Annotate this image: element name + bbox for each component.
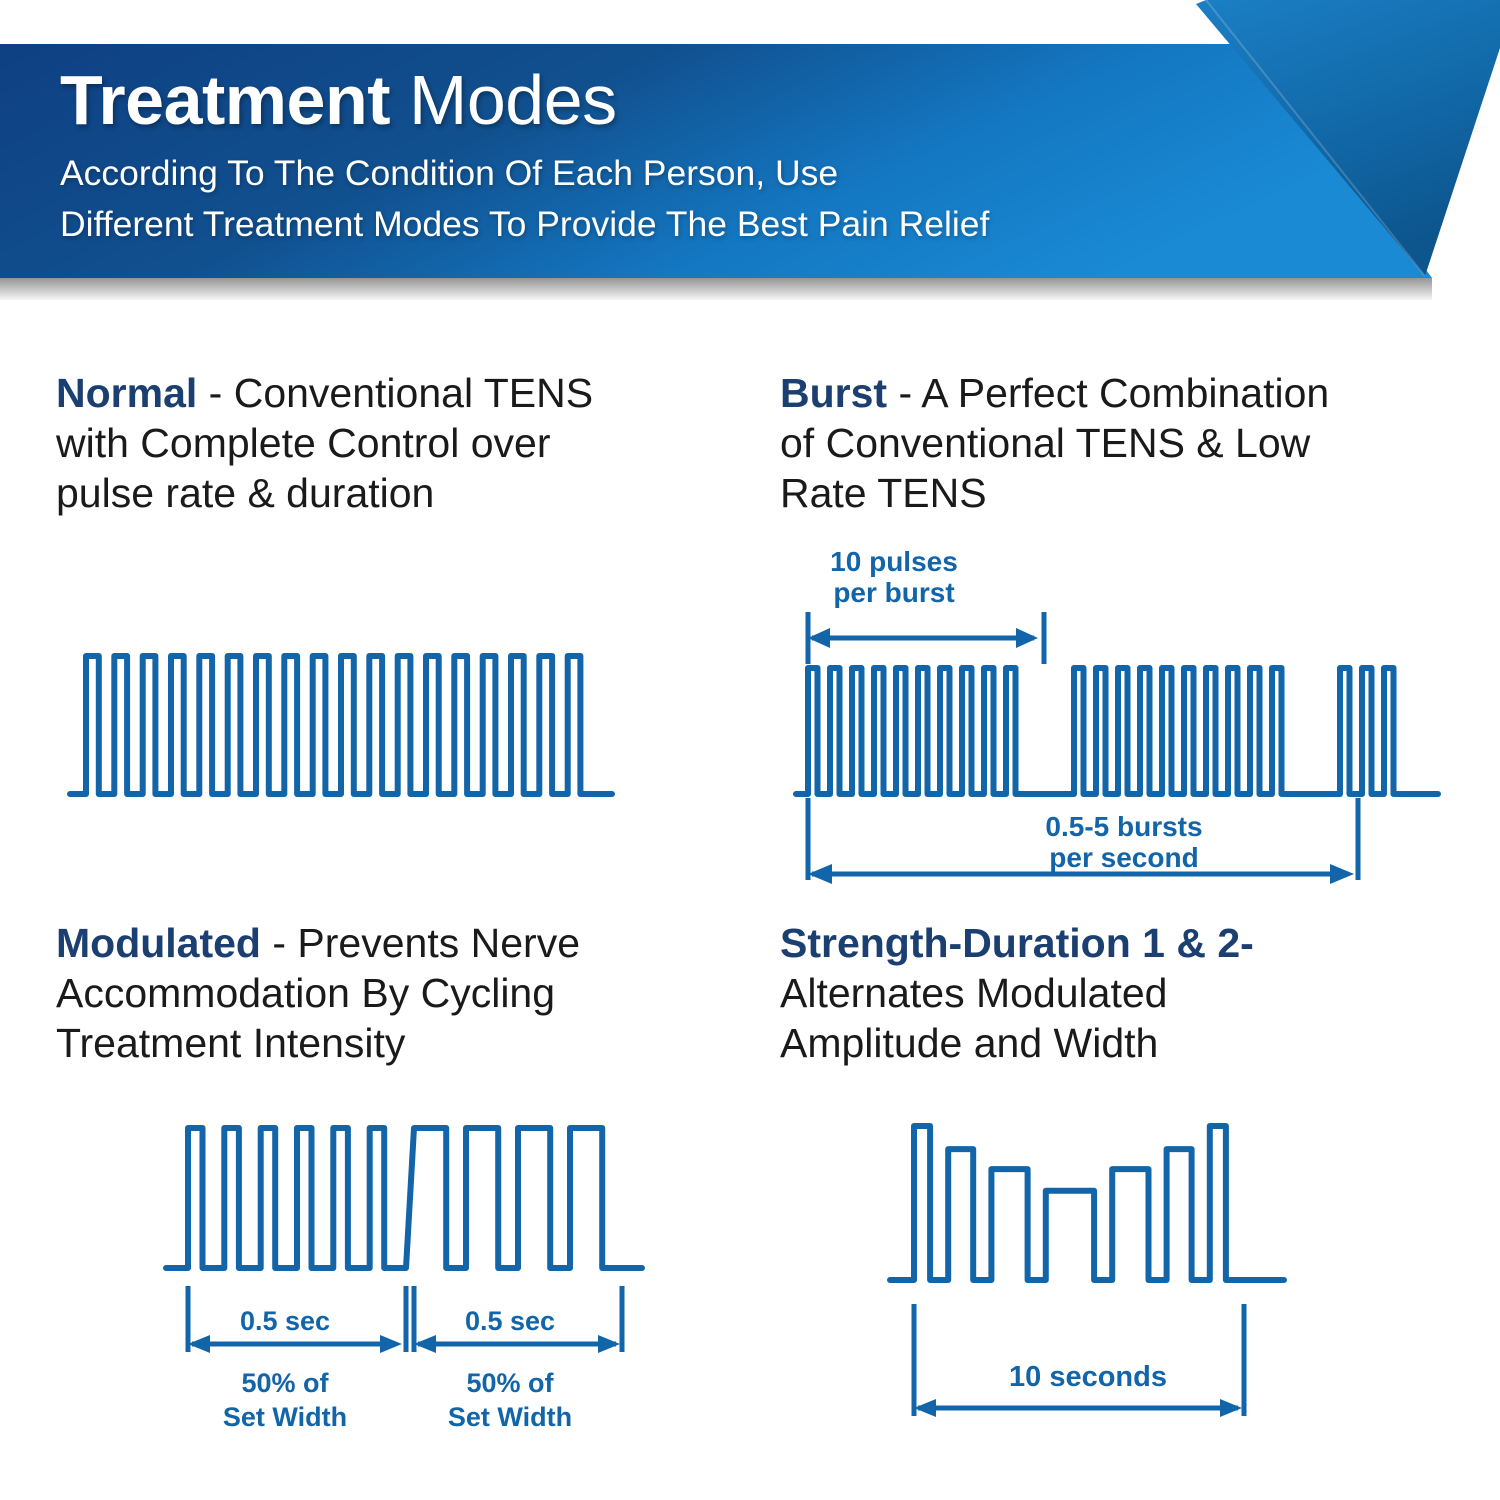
mode-desc-sd-line-3: Amplitude and Width <box>780 1020 1158 1066</box>
arrowhead-left <box>414 1335 436 1353</box>
arrowhead-right <box>1220 1399 1242 1417</box>
mode-name-normal: Normal <box>56 370 197 416</box>
mode-name-burst: Burst <box>780 370 887 416</box>
annotation-right-halfsec-line-1: 0.5 sec <box>465 1306 555 1336</box>
annotation-right-halfsec-line-3: Set Width <box>448 1402 572 1432</box>
arrowhead-right <box>598 1335 620 1353</box>
annotation-bursts-per-second-line-2: per second <box>1049 842 1198 873</box>
annotation-left-halfsec-line-3: Set Width <box>223 1402 347 1432</box>
mode-card-normal: Normal - Conventional TENS with Complete… <box>56 368 746 819</box>
burst-pulse-train <box>796 668 1438 794</box>
arrowhead-left <box>188 1335 210 1353</box>
mode-desc-modulated-line-1: - Prevents Nerve <box>272 920 580 966</box>
waveform-burst: 10 pulses per burst 0.5-5 bursts per sec <box>786 536 1480 891</box>
normal-waveform-svg <box>56 634 626 814</box>
mode-heading-modulated: Modulated - Prevents Nerve Accommodation… <box>56 918 746 1068</box>
page-title: Treatment Modes <box>60 62 1350 138</box>
mode-name-dash: - <box>1240 920 1254 966</box>
page-subtitle-line-2: Different Treatment Modes To Provide The… <box>60 199 1350 250</box>
arrowhead-left <box>914 1399 936 1417</box>
modulated-pulse-train <box>166 1128 642 1268</box>
mode-heading-burst: Burst - A Perfect Combination of Convent… <box>780 368 1480 518</box>
mode-desc-normal-line-1: - Conventional TENS <box>209 370 593 416</box>
mode-card-modulated: Modulated - Prevents Nerve Accommodation… <box>56 918 746 1449</box>
dimension-pulses-per-burst <box>808 612 1044 664</box>
ribbon-shadow <box>0 278 1432 300</box>
mode-desc-normal-line-3: pulse rate & duration <box>56 470 434 516</box>
mode-desc-modulated-line-3: Treatment Intensity <box>56 1020 405 1066</box>
mode-heading-normal: Normal - Conventional TENS with Complete… <box>56 368 746 518</box>
infographic-page: Treatment Modes According To The Conditi… <box>0 0 1500 1500</box>
arrowhead-left <box>808 628 830 648</box>
arrowhead-right <box>380 1335 402 1353</box>
annotation-left-halfsec-line-2: 50% of <box>241 1368 329 1398</box>
strength-duration-waveform-svg: 10 seconds <box>878 1104 1298 1444</box>
page-subtitle-line-1: According To The Condition Of Each Perso… <box>60 148 1350 199</box>
waveform-normal <box>56 634 746 819</box>
annotation-bursts-per-second-line-1: 0.5-5 bursts <box>1045 811 1202 842</box>
burst-waveform-svg: 10 pulses per burst 0.5-5 bursts per sec <box>786 536 1446 886</box>
header-ribbon: Treatment Modes According To The Conditi… <box>0 0 1500 300</box>
ribbon-text-block: Treatment Modes According To The Conditi… <box>60 62 1350 250</box>
normal-pulse-train <box>70 656 612 794</box>
page-subtitle: According To The Condition Of Each Perso… <box>60 148 1350 250</box>
annotation-left-halfsec-line-1: 0.5 sec <box>240 1306 330 1336</box>
mode-desc-modulated-line-2: Accommodation By Cycling <box>56 970 555 1016</box>
strength-duration-pulse-train <box>890 1126 1284 1280</box>
mode-card-strength-duration: Strength-Duration 1 & 2- Alternates Modu… <box>780 918 1480 1449</box>
mode-card-burst: Burst - A Perfect Combination of Convent… <box>780 368 1480 891</box>
mode-desc-normal-line-2: with Complete Control over <box>56 420 550 466</box>
mode-desc-sd-line-2: Alternates Modulated <box>780 970 1167 1016</box>
modes-grid: Normal - Conventional TENS with Complete… <box>0 300 1500 1500</box>
mode-name-modulated: Modulated <box>56 920 261 966</box>
page-title-light: Modes <box>409 61 617 139</box>
waveform-strength-duration: 10 seconds <box>878 1104 1480 1449</box>
arrowhead-right <box>1016 628 1038 648</box>
arrowhead-left <box>808 864 832 884</box>
mode-desc-burst-line-3: Rate TENS <box>780 470 987 516</box>
dimension-ten-seconds <box>914 1304 1244 1416</box>
mode-desc-burst-line-1: - A Perfect Combination <box>898 370 1329 416</box>
annotation-ten-seconds: 10 seconds <box>1009 1361 1167 1393</box>
annotation-pulses-per-burst-line-1: 10 pulses <box>830 546 958 577</box>
annotation-pulses-per-burst-line-2: per burst <box>833 577 954 608</box>
mode-desc-burst-line-2: of Conventional TENS & Low <box>780 420 1310 466</box>
modulated-waveform-svg: 0.5 sec 50% of Set Width 0.5 sec 50% of … <box>152 1104 652 1444</box>
waveform-modulated: 0.5 sec 50% of Set Width 0.5 sec 50% of … <box>152 1104 746 1449</box>
annotation-right-halfsec-line-2: 50% of <box>466 1368 554 1398</box>
page-title-bold: Treatment <box>60 61 390 139</box>
mode-heading-strength-duration: Strength-Duration 1 & 2- Alternates Modu… <box>780 918 1480 1068</box>
arrowhead-right <box>1330 864 1354 884</box>
mode-name-strength-duration: Strength-Duration 1 & 2 <box>780 920 1240 966</box>
